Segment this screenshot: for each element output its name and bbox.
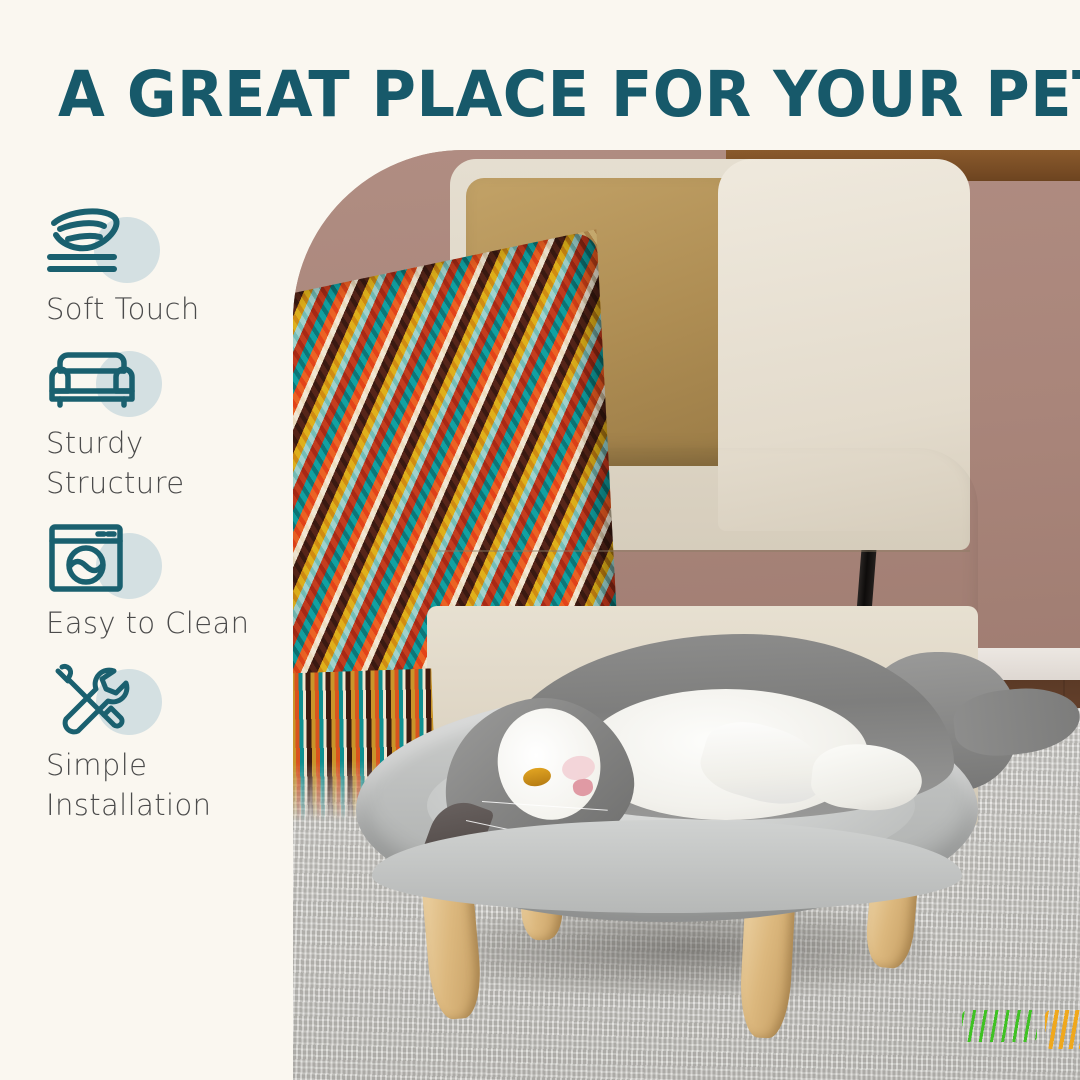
spring-toy-green	[962, 1010, 1037, 1042]
washing-machine-icon	[46, 521, 156, 597]
feature-item-simple-installation: Simple Installation	[46, 661, 296, 825]
feather-icon	[46, 205, 156, 279]
spring-toy-orange	[1045, 1010, 1080, 1049]
feature-item-easy-to-clean: Easy to Clean	[46, 521, 296, 643]
feature-list: Soft Touch Sturdy Structure	[46, 205, 296, 843]
product-photo	[293, 150, 1080, 1080]
feature-label: Sturdy Structure	[46, 423, 296, 503]
feature-item-sturdy-structure: Sturdy Structure	[46, 347, 296, 503]
feature-icon-wrap	[46, 347, 196, 417]
feature-icon-wrap	[46, 205, 196, 283]
page-title: A GREAT PLACE FOR YOUR PET	[58, 62, 999, 128]
feature-icon-wrap	[46, 661, 196, 739]
feature-label: Soft Touch	[46, 289, 296, 329]
sofa-icon	[46, 347, 156, 417]
feature-label: Simple Installation	[46, 745, 296, 825]
tools-icon	[46, 661, 156, 739]
feature-icon-wrap	[46, 521, 196, 597]
sofa-seam	[435, 550, 970, 552]
feature-item-soft-touch: Soft Touch	[46, 205, 296, 329]
feature-label: Easy to Clean	[46, 603, 296, 643]
